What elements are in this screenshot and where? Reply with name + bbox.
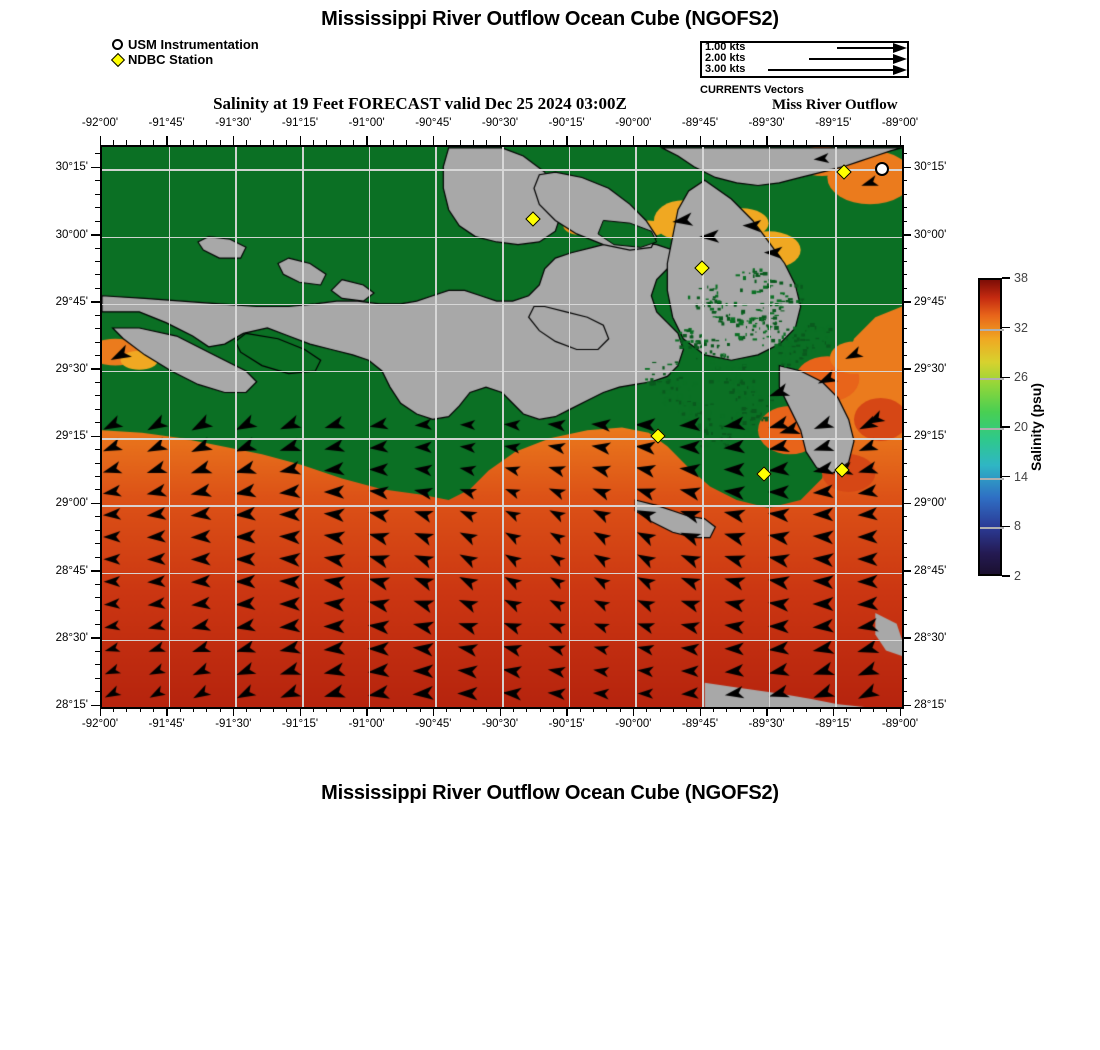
- colorbar-inner-tick: [980, 378, 1004, 380]
- y-minor-tick: [902, 221, 907, 222]
- x-minor-tick: [846, 707, 847, 712]
- x-minor-tick: [420, 140, 421, 145]
- gridline-horizontal: [102, 640, 902, 642]
- y-minor-tick: [95, 422, 100, 423]
- x-minor-tick: [153, 707, 154, 712]
- gridline-vertical: [702, 147, 704, 707]
- y-tick-label: 28°15': [44, 699, 88, 711]
- x-minor-tick: [340, 140, 341, 145]
- x-minor-tick: [246, 707, 247, 712]
- y-tick-label: 29°30': [914, 363, 964, 375]
- x-tick-label: -90°30': [482, 718, 518, 730]
- y-tick: [902, 368, 911, 370]
- x-minor-tick: [700, 707, 701, 712]
- y-tick-label: 28°45': [44, 565, 88, 577]
- gridline-vertical: [169, 147, 171, 707]
- x-minor-tick: [820, 707, 821, 712]
- x-minor-tick: [273, 140, 274, 145]
- y-tick: [91, 503, 100, 505]
- x-minor-tick: [113, 140, 114, 145]
- x-tick-label: -91°30': [215, 718, 251, 730]
- y-tick-label: 29°15': [44, 430, 88, 442]
- x-tick-label: -89°45': [682, 117, 718, 129]
- legend-item-ndbc: NDBC Station: [110, 52, 259, 67]
- y-tick: [902, 570, 911, 572]
- x-minor-tick: [353, 140, 354, 145]
- y-minor-tick: [902, 664, 907, 665]
- y-minor-tick: [95, 664, 100, 665]
- x-minor-tick: [846, 140, 847, 145]
- x-minor-tick: [460, 140, 461, 145]
- x-minor-tick: [220, 707, 221, 712]
- colorbar-tick-label: 2: [1014, 569, 1021, 583]
- colorbar-inner-tick: [980, 329, 1004, 331]
- vector-arrowhead-icon: [893, 54, 907, 64]
- marker-legend: USM Instrumentation NDBC Station: [110, 37, 259, 67]
- gridline-vertical: [369, 147, 371, 707]
- y-tick: [91, 637, 100, 639]
- x-minor-tick: [206, 707, 207, 712]
- legend-label-ndbc: NDBC Station: [128, 53, 213, 66]
- y-minor-tick: [902, 543, 907, 544]
- y-minor-tick: [902, 584, 907, 585]
- outflow-label: Miss River Outflow: [772, 97, 972, 114]
- y-minor-tick: [902, 476, 907, 477]
- x-minor-tick: [180, 707, 181, 712]
- y-minor-tick: [95, 678, 100, 679]
- map-canvas: [102, 147, 902, 707]
- x-minor-tick: [420, 707, 421, 712]
- x-minor-tick: [660, 140, 661, 145]
- bottom-title: Mississippi River Outflow Ocean Cube (NG…: [0, 782, 1100, 805]
- y-tick: [91, 167, 100, 169]
- x-tick-label: -89°30': [749, 718, 785, 730]
- y-minor-tick: [95, 194, 100, 195]
- y-minor-tick: [95, 530, 100, 531]
- x-minor-tick: [793, 707, 794, 712]
- colorbar-title: Salinity (psu): [1028, 383, 1044, 471]
- y-tick-label: 28°30': [914, 632, 964, 644]
- y-minor-tick: [95, 597, 100, 598]
- colorbar-inner-tick: [980, 428, 1004, 430]
- y-minor-tick: [902, 691, 907, 692]
- gridline-horizontal: [102, 371, 902, 373]
- x-minor-tick: [446, 140, 447, 145]
- gridline-vertical: [302, 147, 304, 707]
- x-minor-tick: [820, 140, 821, 145]
- x-minor-tick: [540, 707, 541, 712]
- vector-shaft: [809, 58, 893, 60]
- y-tick-label: 30°00': [914, 229, 964, 241]
- x-tick-label: -89°30': [749, 117, 785, 129]
- x-minor-tick: [620, 140, 621, 145]
- colorbar-tick: [1002, 277, 1010, 279]
- y-minor-tick: [95, 691, 100, 692]
- x-minor-tick: [673, 140, 674, 145]
- x-tick-label: -90°15': [549, 718, 585, 730]
- y-tick: [902, 234, 911, 236]
- gridline-vertical: [569, 147, 571, 707]
- x-minor-tick: [273, 707, 274, 712]
- y-tick-label: 29°00': [914, 497, 964, 509]
- y-minor-tick: [95, 382, 100, 383]
- x-minor-tick: [833, 707, 834, 712]
- currents-vector-legend: 1.00 kts 2.00 kts 3.00 kts: [700, 41, 909, 78]
- x-minor-tick: [473, 140, 474, 145]
- y-minor-tick: [95, 489, 100, 490]
- x-minor-tick: [553, 707, 554, 712]
- x-minor-tick: [126, 707, 127, 712]
- y-tick: [902, 705, 911, 707]
- vector-legend-row: 3.00 kts: [702, 65, 907, 76]
- y-tick-label: 29°45': [44, 296, 88, 308]
- x-minor-tick: [326, 707, 327, 712]
- y-tick-label: 28°15': [914, 699, 964, 711]
- colorbar: [978, 278, 1002, 576]
- x-tick-label: -91°15': [282, 718, 318, 730]
- y-minor-tick: [902, 409, 907, 410]
- x-minor-tick: [193, 707, 194, 712]
- colorbar-tick-label: 8: [1014, 519, 1021, 533]
- gridline-vertical: [835, 147, 837, 707]
- x-tick-label: -90°45': [415, 117, 451, 129]
- y-tick: [91, 436, 100, 438]
- x-minor-tick: [286, 140, 287, 145]
- x-tick-label: -90°15': [549, 117, 585, 129]
- x-minor-tick: [686, 707, 687, 712]
- y-minor-tick: [902, 315, 907, 316]
- y-minor-tick: [902, 382, 907, 383]
- x-minor-tick: [153, 140, 154, 145]
- x-minor-tick: [220, 140, 221, 145]
- y-minor-tick: [902, 651, 907, 652]
- x-tick-label: -89°15': [815, 117, 851, 129]
- gridline-horizontal: [102, 573, 902, 575]
- x-minor-tick: [766, 707, 767, 712]
- gridline-horizontal: [102, 237, 902, 239]
- y-minor-tick: [902, 422, 907, 423]
- x-minor-tick: [433, 707, 434, 712]
- vector-arrowhead-icon: [893, 43, 907, 53]
- x-tick-label: -89°15': [815, 718, 851, 730]
- x-minor-tick: [500, 140, 501, 145]
- x-minor-tick: [886, 140, 887, 145]
- x-minor-tick: [580, 707, 581, 712]
- y-minor-tick: [95, 248, 100, 249]
- x-minor-tick: [393, 140, 394, 145]
- x-minor-tick: [700, 140, 701, 145]
- colorbar-tick: [1002, 377, 1010, 379]
- x-minor-tick: [366, 140, 367, 145]
- x-minor-tick: [646, 140, 647, 145]
- x-minor-tick: [633, 140, 634, 145]
- x-minor-tick: [766, 140, 767, 145]
- y-minor-tick: [95, 651, 100, 652]
- y-minor-tick: [95, 624, 100, 625]
- y-minor-tick: [902, 624, 907, 625]
- x-minor-tick: [553, 140, 554, 145]
- x-tick: [100, 136, 102, 145]
- x-minor-tick: [593, 707, 594, 712]
- x-minor-tick: [620, 707, 621, 712]
- x-minor-tick: [673, 707, 674, 712]
- vector-arrowhead-icon: [893, 65, 907, 75]
- y-tick-label: 30°15': [914, 161, 964, 173]
- x-minor-tick: [166, 140, 167, 145]
- x-minor-tick: [246, 140, 247, 145]
- y-minor-tick: [95, 274, 100, 275]
- colorbar-tick-label: 20: [1014, 420, 1028, 434]
- x-minor-tick: [873, 707, 874, 712]
- y-minor-tick: [902, 261, 907, 262]
- x-minor-tick: [526, 707, 527, 712]
- x-minor-tick: [406, 707, 407, 712]
- y-minor-tick: [902, 489, 907, 490]
- y-tick-label: 29°45': [914, 296, 964, 308]
- y-tick: [902, 637, 911, 639]
- x-tick-label: -92°00': [82, 117, 118, 129]
- x-minor-tick: [206, 140, 207, 145]
- x-minor-tick: [660, 707, 661, 712]
- gridline-horizontal: [102, 505, 902, 507]
- y-tick-label: 29°00': [44, 497, 88, 509]
- y-minor-tick: [95, 449, 100, 450]
- colorbar-tick: [1002, 476, 1010, 478]
- y-minor-tick: [95, 476, 100, 477]
- y-minor-tick: [95, 207, 100, 208]
- x-minor-tick: [566, 140, 567, 145]
- x-minor-tick: [780, 140, 781, 145]
- y-minor-tick: [902, 516, 907, 517]
- x-minor-tick: [113, 707, 114, 712]
- x-minor-tick: [833, 140, 834, 145]
- x-minor-tick: [260, 707, 261, 712]
- x-minor-tick: [340, 707, 341, 712]
- gridline-vertical: [235, 147, 237, 707]
- x-tick-label: -90°45': [415, 718, 451, 730]
- x-minor-tick: [633, 707, 634, 712]
- x-minor-tick: [406, 140, 407, 145]
- y-minor-tick: [95, 153, 100, 154]
- x-tick-label: -89°00': [882, 718, 918, 730]
- x-minor-tick: [566, 707, 567, 712]
- x-tick-label: -91°45': [149, 718, 185, 730]
- gridline-vertical: [769, 147, 771, 707]
- gridline-horizontal: [102, 438, 902, 440]
- x-minor-tick: [126, 140, 127, 145]
- x-minor-tick: [140, 140, 141, 145]
- y-minor-tick: [902, 610, 907, 611]
- x-minor-tick: [513, 140, 514, 145]
- vector-shaft: [837, 47, 893, 49]
- x-tick-label: -91°15': [282, 117, 318, 129]
- x-minor-tick: [366, 707, 367, 712]
- x-minor-tick: [726, 707, 727, 712]
- chart-subtitle: Salinity at 19 Feet FORECAST valid Dec 2…: [0, 94, 840, 114]
- x-tick-label: -91°45': [149, 117, 185, 129]
- colorbar-tick: [1002, 426, 1010, 428]
- y-minor-tick: [902, 248, 907, 249]
- x-minor-tick: [286, 707, 287, 712]
- x-minor-tick: [753, 707, 754, 712]
- y-tick-label: 30°15': [44, 161, 88, 173]
- x-minor-tick: [446, 707, 447, 712]
- x-tick-label: -89°45': [682, 718, 718, 730]
- y-minor-tick: [902, 342, 907, 343]
- colorbar-tick: [1002, 526, 1010, 528]
- x-minor-tick: [606, 140, 607, 145]
- y-minor-tick: [902, 153, 907, 154]
- x-minor-tick: [713, 707, 714, 712]
- y-minor-tick: [95, 355, 100, 356]
- y-minor-tick: [902, 449, 907, 450]
- x-minor-tick: [500, 707, 501, 712]
- x-minor-tick: [593, 140, 594, 145]
- y-minor-tick: [95, 543, 100, 544]
- x-minor-tick: [353, 707, 354, 712]
- x-minor-tick: [900, 140, 901, 145]
- ndbc-diamond-icon: [110, 54, 125, 66]
- colorbar-tick-label: 32: [1014, 321, 1028, 335]
- colorbar-tick-label: 14: [1014, 470, 1028, 484]
- colorbar-tick-label: 38: [1014, 271, 1028, 285]
- x-minor-tick: [526, 140, 527, 145]
- y-minor-tick: [902, 288, 907, 289]
- x-minor-tick: [713, 140, 714, 145]
- colorbar-inner-tick: [980, 527, 1004, 529]
- x-minor-tick: [686, 140, 687, 145]
- x-minor-tick: [393, 707, 394, 712]
- x-minor-tick: [486, 707, 487, 712]
- x-tick-label: -90°30': [482, 117, 518, 129]
- vector-shaft: [768, 69, 893, 71]
- y-tick: [902, 167, 911, 169]
- y-tick: [902, 436, 911, 438]
- y-minor-tick: [95, 221, 100, 222]
- y-minor-tick: [95, 584, 100, 585]
- usm-circle-icon: [110, 39, 125, 50]
- y-tick: [91, 234, 100, 236]
- y-minor-tick: [95, 395, 100, 396]
- x-minor-tick: [473, 707, 474, 712]
- y-minor-tick: [902, 194, 907, 195]
- y-minor-tick: [95, 328, 100, 329]
- gridline-vertical: [635, 147, 637, 707]
- y-tick-label: 29°15': [914, 430, 964, 442]
- y-minor-tick: [902, 530, 907, 531]
- x-minor-tick: [300, 707, 301, 712]
- x-minor-tick: [486, 140, 487, 145]
- y-minor-tick: [902, 328, 907, 329]
- legend-label-usm: USM Instrumentation: [128, 38, 259, 51]
- y-minor-tick: [902, 274, 907, 275]
- x-tick-label: -91°30': [215, 117, 251, 129]
- x-minor-tick: [793, 140, 794, 145]
- y-minor-tick: [902, 395, 907, 396]
- y-minor-tick: [95, 610, 100, 611]
- y-tick-label: 29°30': [44, 363, 88, 375]
- x-minor-tick: [753, 140, 754, 145]
- x-minor-tick: [726, 140, 727, 145]
- x-minor-tick: [540, 140, 541, 145]
- y-tick-label: 28°45': [914, 565, 964, 577]
- x-minor-tick: [300, 140, 301, 145]
- colorbar-inner-tick: [980, 478, 1004, 480]
- x-minor-tick: [860, 140, 861, 145]
- y-minor-tick: [902, 207, 907, 208]
- x-minor-tick: [260, 140, 261, 145]
- y-minor-tick: [95, 315, 100, 316]
- y-tick: [902, 301, 911, 303]
- x-minor-tick: [460, 707, 461, 712]
- y-minor-tick: [95, 409, 100, 410]
- x-minor-tick: [166, 707, 167, 712]
- map-plot-area[interactable]: [100, 145, 904, 709]
- vector-legend-label: 3.00 kts: [705, 64, 745, 75]
- x-tick-label: -91°00': [349, 718, 385, 730]
- y-minor-tick: [902, 463, 907, 464]
- x-minor-tick: [140, 707, 141, 712]
- gridline-horizontal: [102, 304, 902, 306]
- gridline-vertical: [435, 147, 437, 707]
- x-minor-tick: [380, 140, 381, 145]
- y-tick-label: 30°00': [44, 229, 88, 241]
- y-minor-tick: [902, 557, 907, 558]
- x-minor-tick: [740, 707, 741, 712]
- x-tick-label: -89°00': [882, 117, 918, 129]
- x-minor-tick: [326, 140, 327, 145]
- x-minor-tick: [233, 140, 234, 145]
- x-minor-tick: [780, 707, 781, 712]
- x-tick-label: -91°00': [349, 117, 385, 129]
- colorbar-tick: [1002, 327, 1010, 329]
- y-minor-tick: [902, 180, 907, 181]
- x-minor-tick: [433, 140, 434, 145]
- x-minor-tick: [313, 140, 314, 145]
- y-tick: [91, 368, 100, 370]
- y-minor-tick: [95, 180, 100, 181]
- x-minor-tick: [806, 707, 807, 712]
- y-tick: [902, 503, 911, 505]
- x-minor-tick: [860, 707, 861, 712]
- x-minor-tick: [513, 707, 514, 712]
- colorbar-tick-label: 26: [1014, 370, 1028, 384]
- y-tick: [91, 705, 100, 707]
- x-minor-tick: [646, 707, 647, 712]
- y-minor-tick: [95, 261, 100, 262]
- legend-item-usm: USM Instrumentation: [110, 37, 259, 52]
- x-tick-label: -90°00': [615, 117, 651, 129]
- x-minor-tick: [806, 140, 807, 145]
- y-minor-tick: [902, 355, 907, 356]
- y-minor-tick: [902, 678, 907, 679]
- x-minor-tick: [886, 707, 887, 712]
- usm-instrumentation-marker[interactable]: [875, 162, 889, 176]
- x-minor-tick: [233, 707, 234, 712]
- x-minor-tick: [606, 707, 607, 712]
- y-minor-tick: [95, 516, 100, 517]
- x-minor-tick: [380, 707, 381, 712]
- x-tick: [100, 707, 102, 716]
- page-title: Mississippi River Outflow Ocean Cube (NG…: [0, 8, 1100, 31]
- y-tick-label: 28°30': [44, 632, 88, 644]
- x-minor-tick: [873, 140, 874, 145]
- y-minor-tick: [95, 342, 100, 343]
- x-tick-label: -90°00': [615, 718, 651, 730]
- y-minor-tick: [902, 597, 907, 598]
- x-minor-tick: [193, 140, 194, 145]
- x-minor-tick: [313, 707, 314, 712]
